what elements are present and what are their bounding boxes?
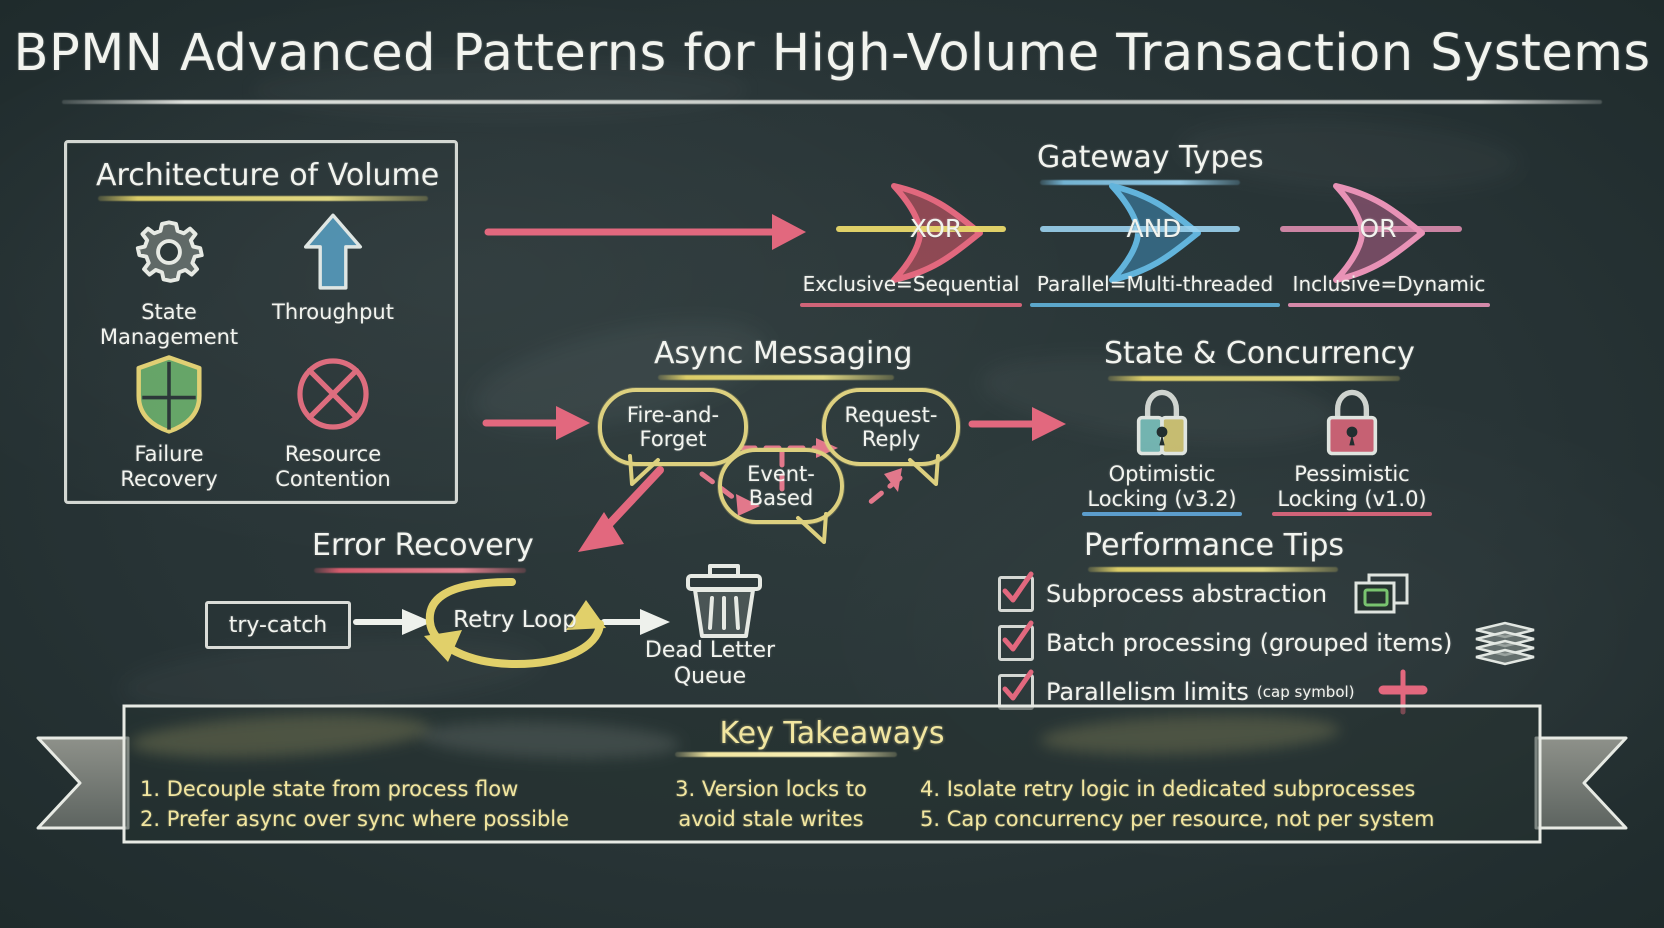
async-bubble-event-based: Event- Based (718, 448, 844, 524)
lock-icon (1252, 388, 1452, 458)
checkbox-batch[interactable] (998, 625, 1034, 661)
bubble-line1: Request- (845, 403, 938, 427)
retry-loop-label: Retry Loop (440, 607, 590, 633)
lock-caption-line1: Optimistic (1062, 462, 1262, 487)
arrow-arch-to-async (486, 406, 590, 440)
tip-row-batch[interactable]: Batch processing (grouped items) (998, 620, 1538, 666)
architecture-heading: Architecture of Volume (96, 158, 439, 193)
gateway-or-symbol: OR (1318, 214, 1438, 243)
check-icon (997, 667, 1037, 707)
takeaway-item: 4. Isolate retry logic in dedicated subp… (920, 774, 1520, 804)
lock-caption-line2: Locking (v3.2) (1062, 487, 1262, 512)
tip-row-subprocess[interactable]: Subprocess abstraction (998, 572, 1411, 616)
takeaways-column-1: 1. Decouple state from process flow 2. P… (140, 774, 620, 834)
state-concurrency-heading: State & Concurrency (1104, 336, 1415, 371)
takeaway-item: avoid stale writes (646, 804, 896, 834)
bubble-tail-icon (788, 512, 834, 546)
error-recovery-heading: Error Recovery (312, 528, 534, 563)
try-catch-box: try-catch (205, 601, 351, 649)
gateway-or-underline (1288, 303, 1490, 307)
gateway-xor-underline (800, 303, 1022, 307)
lock-item-pessimistic: Pessimistic Locking (v1.0) (1252, 388, 1452, 512)
tip-label-batch: Batch processing (grouped items) (1046, 629, 1452, 657)
chalkboard-canvas: BPMN Advanced Patterns for High-Volume T… (0, 0, 1664, 928)
bubble-tail-icon (624, 454, 670, 488)
lock-pessimistic-underline (1272, 512, 1432, 516)
lock-optimistic-underline (1082, 512, 1242, 516)
arch-item-resource-contention: Resource Contention (248, 352, 418, 492)
takeaway-item: 3. Version locks to (646, 774, 896, 804)
check-icon (997, 569, 1037, 609)
error-recovery-heading-underline (314, 568, 526, 573)
gateway-and-caption: Parallel=Multi-threaded (1028, 272, 1282, 296)
async-heading: Async Messaging (654, 336, 912, 371)
async-heading-underline (658, 375, 894, 380)
arch-label-line1: Failure (84, 442, 254, 467)
bubble-line1: Fire-and- (627, 403, 719, 427)
arch-label-line1: State (84, 300, 254, 325)
gateway-xor-caption: Exclusive=Sequential (798, 272, 1024, 296)
gateway-and-symbol: AND (1094, 214, 1214, 243)
arch-item-failure-recovery: Failure Recovery (84, 352, 254, 492)
lock-caption-line2: Locking (v1.0) (1252, 487, 1452, 512)
gear-icon (84, 210, 254, 294)
trash-can-icon (672, 560, 776, 642)
arrow-async-to-state (972, 407, 1066, 441)
subprocess-icon (1353, 572, 1411, 616)
no-entry-icon (248, 352, 418, 436)
bubble-line2: Reply (845, 427, 938, 451)
title-underline (62, 100, 1602, 104)
dead-letter-queue-label: Dead Letter Queue (620, 638, 800, 690)
stacked-layers-icon (1472, 620, 1538, 666)
takeaway-item: 2. Prefer async over sync where possible (140, 804, 620, 834)
arch-item-throughput: Throughput (248, 210, 418, 325)
tip-label-parallelism: Parallelism limits (1046, 678, 1249, 706)
tip-sublabel-parallelism: (cap symbol) (1257, 683, 1355, 701)
async-bubble-request-reply: Request- Reply (822, 388, 960, 466)
takeaways-column-2: 3. Version locks to avoid stale writes (646, 774, 896, 834)
bubble-line1: Event- (747, 462, 815, 486)
takeaways-heading: Key Takeaways (0, 716, 1664, 751)
arch-label-line2: Management (84, 325, 254, 350)
lock-caption-line1: Pessimistic (1252, 462, 1452, 487)
lock-icon (1062, 388, 1262, 458)
dlq-line2: Queue (620, 664, 800, 690)
bubble-line2: Based (747, 486, 815, 510)
arch-label-line1: Resource (248, 442, 418, 467)
takeaway-item: 5. Cap concurrency per resource, not per… (920, 804, 1520, 834)
page-title: BPMN Advanced Patterns for High-Volume T… (0, 24, 1664, 83)
takeaways-heading-underline (675, 752, 897, 757)
arrow-arch-to-gateways (488, 214, 806, 250)
gateways-heading: Gateway Types (1037, 140, 1264, 175)
bubble-line2: Forget (627, 427, 719, 451)
architecture-heading-underline (98, 196, 428, 201)
tip-label-subprocess: Subprocess abstraction (1046, 580, 1327, 608)
gateway-xor-symbol: XOR (876, 214, 996, 243)
arch-item-state-management: State Management (84, 210, 254, 350)
gateway-or-caption: Inclusive=Dynamic (1286, 272, 1492, 296)
arch-label-line1: Throughput (248, 300, 418, 325)
up-arrow-icon (248, 210, 418, 294)
takeaway-item: 1. Decouple state from process flow (140, 774, 620, 804)
arch-label-line2: Contention (248, 467, 418, 492)
takeaways-column-3: 4. Isolate retry logic in dedicated subp… (920, 774, 1520, 834)
checkbox-subprocess[interactable] (998, 576, 1034, 612)
check-icon (997, 618, 1037, 658)
shield-icon (84, 352, 254, 436)
dlq-line1: Dead Letter (620, 638, 800, 664)
arch-label-line2: Recovery (84, 467, 254, 492)
state-concurrency-heading-underline (1108, 376, 1400, 381)
arrow-retry-to-dlq (604, 609, 670, 635)
lock-item-optimistic: Optimistic Locking (v3.2) (1062, 388, 1262, 512)
performance-heading: Performance Tips (1084, 528, 1344, 563)
bubble-tail-icon (898, 454, 944, 488)
arrow-trycatch-to-retry (356, 609, 432, 635)
gateway-and-underline (1030, 303, 1280, 307)
async-bubble-fire-and-forget: Fire-and- Forget (598, 388, 748, 466)
